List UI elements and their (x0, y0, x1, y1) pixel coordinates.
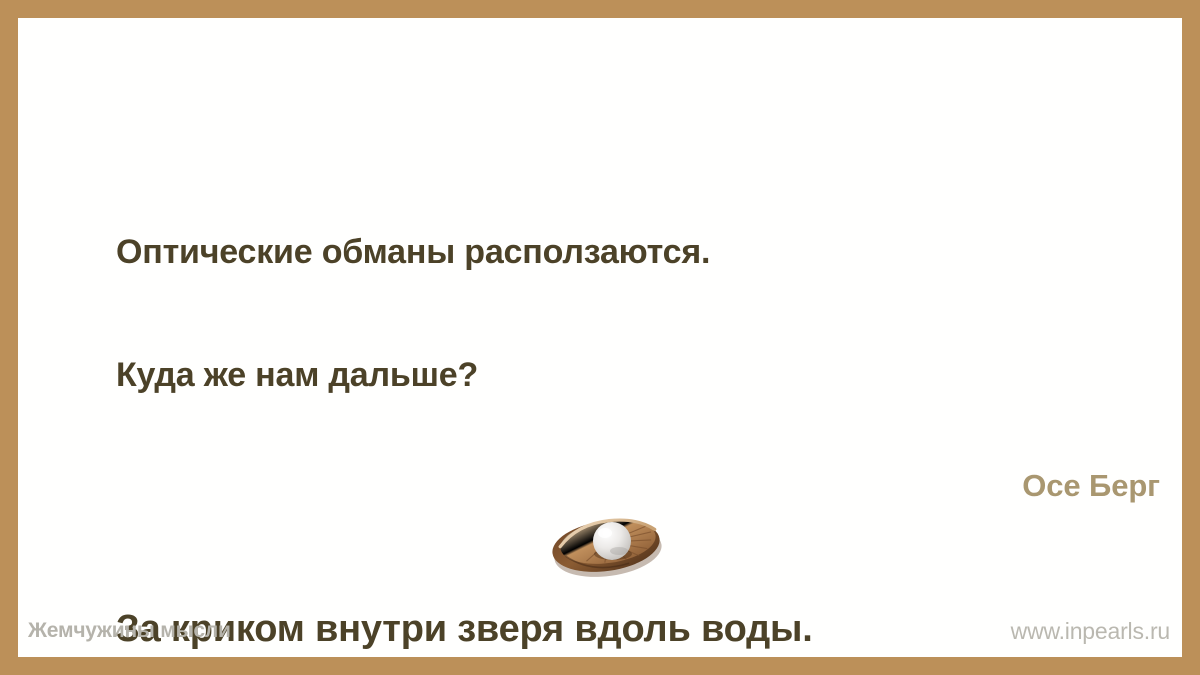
quote-author: Осе Берг (1022, 468, 1160, 504)
quote-stanza-one: Оптические обманы расползаются. Куда же … (116, 150, 1116, 478)
quote-card: Оптические обманы расползаются. Куда же … (18, 18, 1182, 657)
pearl-in-shell-icon (540, 506, 680, 581)
footer: Жемчужины мысли www.inpearls.ru (18, 597, 1182, 657)
quote-line: Куда же нам дальше? (116, 355, 1116, 396)
footer-brand: Жемчужины мысли (28, 619, 231, 643)
footer-site-link[interactable]: www.inpearls.ru (1011, 618, 1170, 645)
quote-line: Оптические обманы расползаются. (116, 232, 1116, 273)
